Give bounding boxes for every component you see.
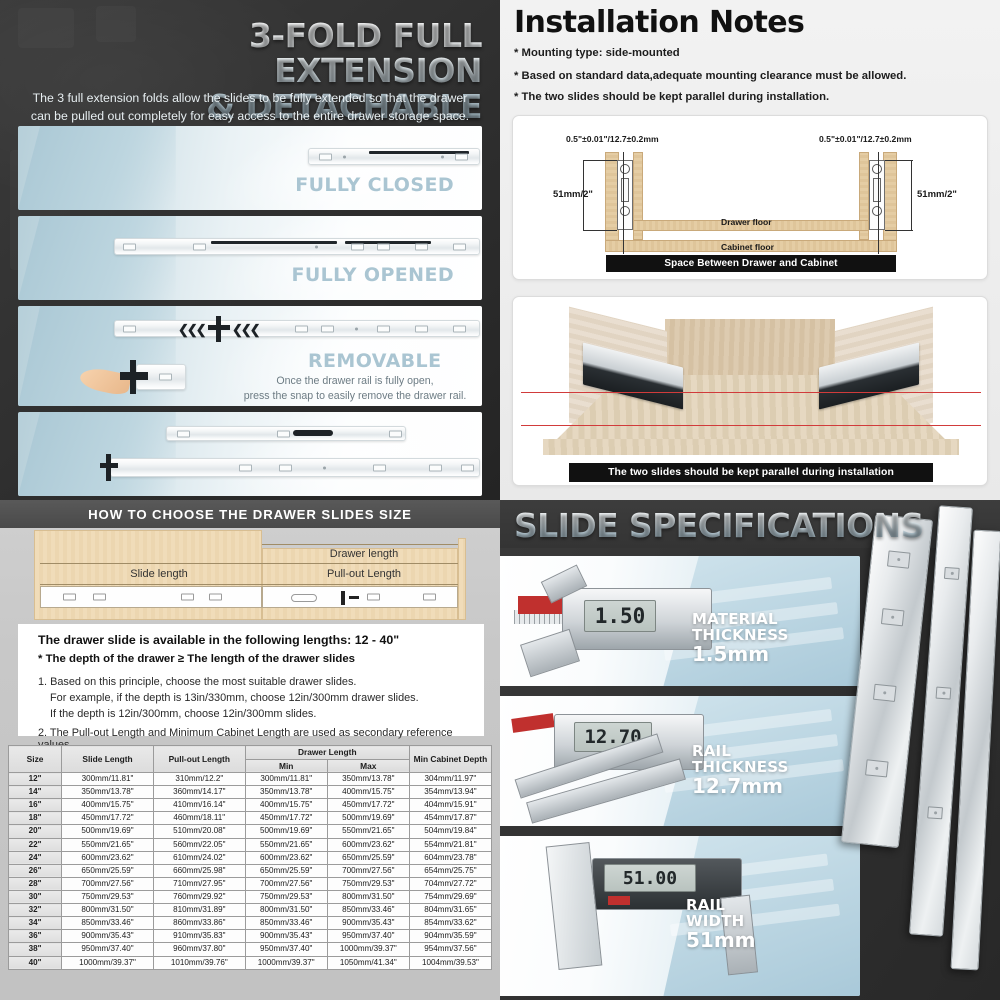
- spec-card-rail-width: 51.00 RAIL WIDTH 51mm: [500, 836, 860, 996]
- spec-card-material-thickness: 1.50 MATERIAL THICKNESS 1.5mm: [500, 556, 860, 686]
- size-table: Size Slide Length Pull-out Length Drawer…: [8, 745, 492, 970]
- label-drawer-length: Drawer length: [274, 548, 454, 560]
- th-slide-length: Slide Length: [62, 746, 154, 773]
- sizing-bullet: For example, if the depth is 13in/330mm,…: [50, 692, 419, 704]
- table-cell: 510mm/20.08": [153, 825, 245, 838]
- page-subtitle: The 3 full extension folds allow the sli…: [22, 90, 478, 126]
- height-label-left: 51mm/2": [553, 189, 593, 200]
- state-label: FULLY CLOSED: [295, 174, 454, 196]
- installation-note: * Mounting type: side-mounted: [514, 47, 680, 59]
- caliper-reading: 1.50: [584, 600, 656, 632]
- table-cell: 600mm/23.62": [62, 851, 154, 864]
- table-cell: 450mm/17.72": [327, 799, 409, 812]
- clearance-label-right: 0.5"±0.01"/12.7±0.2mm: [819, 134, 912, 144]
- sizing-bullet: If the depth is 12in/300mm, choose 12in/…: [50, 708, 316, 720]
- table-cell: 754mm/29.69": [409, 890, 491, 903]
- cabinet-back-panel: [665, 319, 835, 381]
- detached-inner-rail: [166, 426, 406, 441]
- panel-full-extension: 3-FOLD FULL EXTENSION & DETACHABLE The 3…: [0, 0, 500, 500]
- table-cell: 700mm/27.56": [62, 877, 154, 890]
- table-cell: 30": [9, 890, 62, 903]
- table-cell: 400mm/15.75": [245, 799, 327, 812]
- installation-title: Installation Notes: [514, 5, 804, 40]
- detached-snap-arm: [100, 463, 118, 468]
- sizing-bullet: 1. Based on this principle, choose the m…: [38, 676, 356, 688]
- table-cell: 1000mm/39.37": [245, 956, 327, 969]
- table-cell: 300mm/11.81": [245, 773, 327, 786]
- detached-outer-rail: [110, 458, 480, 477]
- table-cell: 360mm/14.17": [153, 786, 245, 799]
- table-cell: 910mm/35.83": [153, 930, 245, 943]
- table-row: 34"850mm/33.46"860mm/33.86"850mm/33.46"9…: [9, 917, 492, 930]
- table-cell: 950mm/37.40": [62, 943, 154, 956]
- table-cell: 32": [9, 904, 62, 917]
- panel-how-to-choose: HOW TO CHOOSE THE DRAWER SLIDES SIZE Sli…: [0, 500, 500, 1000]
- table-cell: 1000mm/39.37": [327, 943, 409, 956]
- table-cell: 650mm/25.59": [245, 864, 327, 877]
- chevron-left-icon: ❮❮❮: [232, 322, 259, 338]
- table-cell: 500mm/19.69": [62, 825, 154, 838]
- table-cell: 1010mm/39.76": [153, 956, 245, 969]
- table-cell: 400mm/15.75": [327, 786, 409, 799]
- table-cell: 16": [9, 799, 62, 812]
- table-cell: 650mm/25.59": [327, 851, 409, 864]
- panel-slide-specifications: SLIDE SPECIFICATIONS 1.50: [500, 500, 1000, 1000]
- table-cell: 38": [9, 943, 62, 956]
- table-cell: 800mm/31.50": [62, 904, 154, 917]
- spec-label-rail-thickness: RAIL THICKNESS 12.7mm: [692, 744, 789, 797]
- table-cell: 850mm/33.46": [62, 917, 154, 930]
- table-cell: 604mm/23.78": [409, 851, 491, 864]
- spec-label-rail-width: RAIL WIDTH 51mm: [686, 898, 756, 951]
- table-cell: 18": [9, 812, 62, 825]
- table-cell: 350mm/13.78": [62, 786, 154, 799]
- installation-note: * The two slides should be kept parallel…: [514, 91, 829, 103]
- cross-section-diagram: 0.5"±0.01"/12.7±0.2mm 0.5"±0.01"/12.7±0.…: [512, 115, 988, 280]
- table-cell: 410mm/16.14": [153, 799, 245, 812]
- table-cell: 760mm/29.92": [153, 890, 245, 903]
- table-cell: 610mm/24.02": [153, 851, 245, 864]
- table-cell: 500mm/19.69": [327, 812, 409, 825]
- caliper-reading: 51.00: [604, 864, 696, 892]
- table-cell: 560mm/22.05": [153, 838, 245, 851]
- slide-rail-closed: [308, 148, 480, 165]
- cabinet-wall-right: [883, 152, 897, 246]
- spec-card-rail-thickness: 12.70 RAIL THICKNESS 12.7mm: [500, 696, 860, 826]
- th-min: Min: [245, 759, 327, 773]
- table-cell: 20": [9, 825, 62, 838]
- table-cell: 310mm/12.2": [153, 773, 245, 786]
- table-cell: 354mm/13.94": [409, 786, 491, 799]
- state-label: REMOVABLE: [308, 350, 441, 372]
- alignment-line-upper: [521, 392, 981, 393]
- installation-note: * Based on standard data,adequate mounti…: [514, 70, 906, 82]
- spec-label-material-thickness: MATERIAL THICKNESS 1.5mm: [692, 612, 789, 665]
- space-between-caption: Space Between Drawer and Cabinet: [606, 255, 896, 272]
- table-head: Size Slide Length Pull-out Length Drawer…: [9, 746, 492, 773]
- table-cell: 1004mm/39.53": [409, 956, 491, 969]
- table-cell: 850mm/33.46": [327, 904, 409, 917]
- panel-installation-notes: Installation Notes * Mounting type: side…: [500, 0, 1000, 500]
- table-row: 16"400mm/15.75"410mm/16.14"400mm/15.75"4…: [9, 799, 492, 812]
- slide-rail-opened: [114, 238, 480, 255]
- table-header-row-1: Size Slide Length Pull-out Length Drawer…: [9, 746, 492, 760]
- table-row: 20"500mm/19.69"510mm/20.08"500mm/19.69"5…: [9, 825, 492, 838]
- table-row: 32"800mm/31.50"810mm/31.89"800mm/31.50"8…: [9, 904, 492, 917]
- table-cell: 500mm/19.69": [245, 825, 327, 838]
- table-cell: 450mm/17.72": [62, 812, 154, 825]
- table-cell: 12": [9, 773, 62, 786]
- table-cell: 954mm/37.56": [409, 943, 491, 956]
- snap-closeup-arm: [120, 372, 148, 380]
- alignment-line-lower: [521, 425, 981, 426]
- parallel-install-photo: The two slides should be kept parallel d…: [512, 296, 988, 486]
- th-pull-out-length: Pull-out Length: [153, 746, 245, 773]
- state-panel-fully-opened: FULLY OPENED: [18, 216, 482, 300]
- table-row: 26"650mm/25.59"660mm/25.98"650mm/25.59"7…: [9, 864, 492, 877]
- table-cell: 504mm/19.84": [409, 825, 491, 838]
- table-cell: 700mm/27.56": [327, 864, 409, 877]
- infographic-page: 3-FOLD FULL EXTENSION & DETACHABLE The 3…: [0, 0, 1000, 1000]
- removable-note: Once the drawer rail is fully open, pres…: [230, 374, 480, 404]
- sizing-headline: The drawer slide is available in the fol…: [38, 633, 399, 647]
- table-cell: 554mm/21.81": [409, 838, 491, 851]
- table-cell: 1000mm/39.37": [62, 956, 154, 969]
- th-max: Max: [327, 759, 409, 773]
- table-cell: 660mm/25.98": [153, 864, 245, 877]
- table-row: 12"300mm/11.81"310mm/12.2"300mm/11.81"35…: [9, 773, 492, 786]
- table-cell: 854mm/33.62": [409, 917, 491, 930]
- table-cell: 700mm/27.56": [245, 877, 327, 890]
- table-cell: 454mm/17.87": [409, 812, 491, 825]
- table-cell: 600mm/23.62": [327, 838, 409, 851]
- table-cell: 550mm/21.65": [245, 838, 327, 851]
- table-row: 14"350mm/13.78"360mm/14.17"350mm/13.78"4…: [9, 786, 492, 799]
- table-cell: 40": [9, 956, 62, 969]
- table-cell: 550mm/21.65": [327, 825, 409, 838]
- state-panel-removable: ❮❮❮ ❮❮❮ REMOVABLE Once the drawer rail i…: [18, 306, 482, 406]
- table-row: 30"750mm/29.53"760mm/29.92"750mm/29.53"8…: [9, 890, 492, 903]
- table-cell: 600mm/23.62": [245, 851, 327, 864]
- drawer-floor-label: Drawer floor: [721, 217, 772, 227]
- table-cell: 750mm/29.53": [327, 877, 409, 890]
- table-cell: 950mm/37.40": [327, 930, 409, 943]
- table-cell: 1050mm/41.34": [327, 956, 409, 969]
- table-row: 28"700mm/27.56"710mm/27.95"700mm/27.56"7…: [9, 877, 492, 890]
- table-cell: 704mm/27.72": [409, 877, 491, 890]
- table-row: 38"950mm/37.40"960mm/37.80"950mm/37.40"1…: [9, 943, 492, 956]
- table-cell: 810mm/31.89": [153, 904, 245, 917]
- table-cell: 14": [9, 786, 62, 799]
- th-min-cabinet-depth: Min Cabinet Depth: [409, 746, 491, 773]
- table-cell: 300mm/11.81": [62, 773, 154, 786]
- table-cell: 400mm/15.75": [62, 799, 154, 812]
- state-label: FULLY OPENED: [291, 264, 454, 286]
- section-header-how-to-choose: HOW TO CHOOSE THE DRAWER SLIDES SIZE: [0, 500, 500, 528]
- table-cell: 26": [9, 864, 62, 877]
- diagram-rail-left: [40, 586, 262, 608]
- caliper-rail-width: 51.00: [552, 840, 802, 980]
- table-cell: 350mm/13.78": [245, 786, 327, 799]
- specifications-title: SLIDE SPECIFICATIONS: [514, 506, 924, 545]
- table-cell: 900mm/35.43": [245, 930, 327, 943]
- table-cell: 350mm/13.78": [327, 773, 409, 786]
- table-cell: 804mm/31.65": [409, 904, 491, 917]
- table-cell: 800mm/31.50": [327, 890, 409, 903]
- state-panel-detached: [18, 412, 482, 496]
- table-cell: 22": [9, 838, 62, 851]
- table-cell: 650mm/25.59": [62, 864, 154, 877]
- table-cell: 304mm/11.97": [409, 773, 491, 786]
- th-size: Size: [9, 746, 62, 773]
- cabinet-floor-label: Cabinet floor: [721, 242, 774, 252]
- table-row: 40"1000mm/39.37"1010mm/39.76"1000mm/39.3…: [9, 956, 492, 969]
- table-cell: 654mm/25.75": [409, 864, 491, 877]
- label-slide-length: Slide length: [94, 568, 224, 580]
- table-cell: 710mm/27.95": [153, 877, 245, 890]
- clearance-label-left: 0.5"±0.01"/12.7±0.2mm: [566, 134, 659, 144]
- table-cell: 24": [9, 851, 62, 864]
- diagram-rail-right: [262, 586, 458, 608]
- size-diagram: Slide length Drawer length Pull-out Leng…: [34, 530, 466, 620]
- table-cell: 28": [9, 877, 62, 890]
- title-line-1: 3-FOLD FULL EXTENSION: [249, 16, 482, 90]
- chevron-left-icon: ❮❮❮: [178, 322, 205, 338]
- table-cell: 460mm/18.11": [153, 812, 245, 825]
- table-row: 24"600mm/23.62"610mm/24.02"600mm/23.62"6…: [9, 851, 492, 864]
- table-cell: 860mm/33.86": [153, 917, 245, 930]
- table-cell: 850mm/33.46": [245, 917, 327, 930]
- photo-caption: The two slides should be kept parallel d…: [569, 463, 933, 482]
- label-pull-out-length: Pull-out Length: [274, 568, 454, 580]
- table-cell: 34": [9, 917, 62, 930]
- table-cell: 750mm/29.53": [62, 890, 154, 903]
- table-cell: 960mm/37.80": [153, 943, 245, 956]
- diagram-drawer-front: [458, 538, 466, 620]
- table-row: 22"550mm/21.65"560mm/22.05"550mm/21.65"6…: [9, 838, 492, 851]
- table-cell: 550mm/21.65": [62, 838, 154, 851]
- table-cell: 900mm/35.43": [62, 930, 154, 943]
- table-cell: 404mm/15.91": [409, 799, 491, 812]
- table-cell: 900mm/35.43": [327, 917, 409, 930]
- table-row: 18"450mm/17.72"460mm/18.11"450mm/17.72"5…: [9, 812, 492, 825]
- table-row: 36"900mm/35.43"910mm/35.83"900mm/35.43"9…: [9, 930, 492, 943]
- cabinet-base: [543, 439, 959, 455]
- table-cell: 750mm/29.53": [245, 890, 327, 903]
- snap-lever-arm: [208, 325, 230, 330]
- table-cell: 800mm/31.50": [245, 904, 327, 917]
- table-cell: 950mm/37.40": [245, 943, 327, 956]
- sizing-subhead: * The depth of the drawer ≥ The length o…: [38, 653, 355, 665]
- table-cell: 904mm/35.59": [409, 930, 491, 943]
- table-body: 12"300mm/11.81"310mm/12.2"300mm/11.81"35…: [9, 773, 492, 970]
- slide-rail-removable: [114, 320, 480, 337]
- height-label-right: 51mm/2": [917, 189, 957, 200]
- table-cell: 450mm/17.72": [245, 812, 327, 825]
- state-panel-fully-closed: FULLY CLOSED: [18, 126, 482, 210]
- finger-illustration: [78, 365, 131, 397]
- sizing-instructions: The drawer slide is available in the fol…: [18, 624, 484, 736]
- th-drawer-length-group: Drawer Length: [245, 746, 409, 760]
- table-cell: 36": [9, 930, 62, 943]
